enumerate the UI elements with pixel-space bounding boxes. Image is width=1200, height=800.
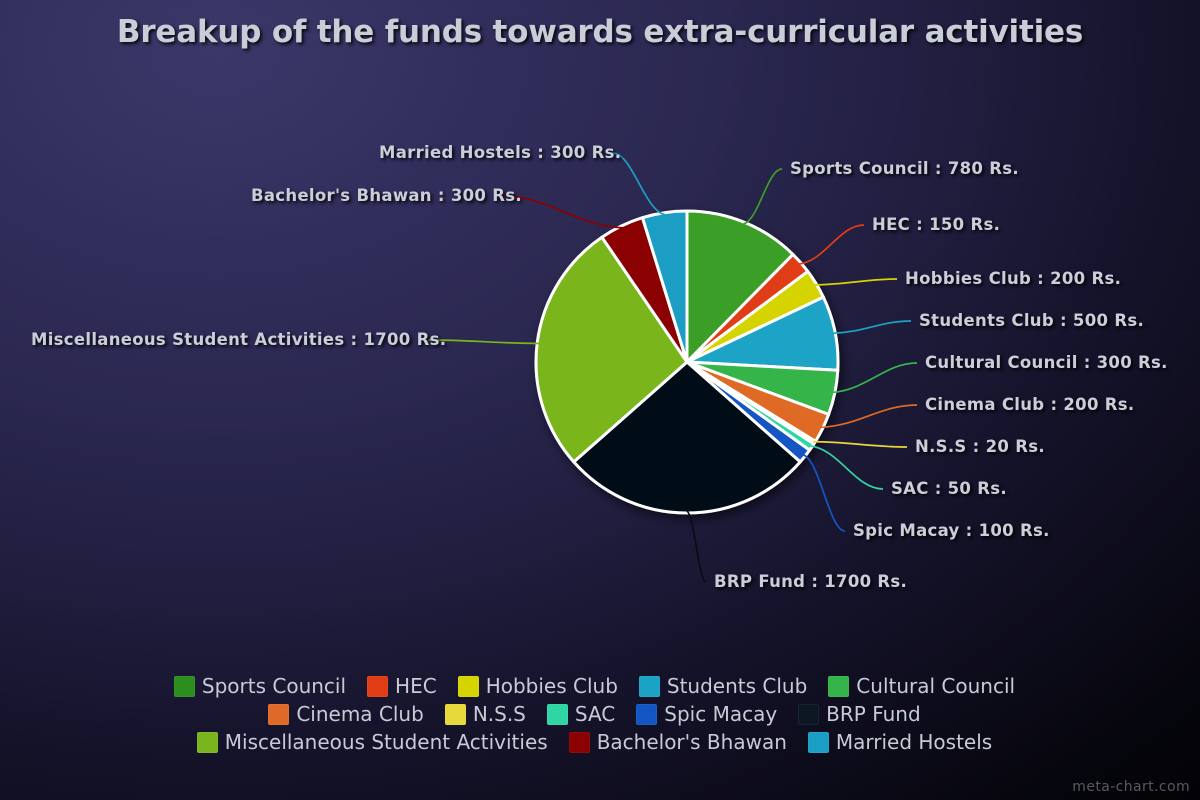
leader-line	[810, 446, 883, 489]
legend-swatch-icon	[547, 704, 568, 725]
legend-label: Sports Council	[202, 676, 346, 696]
slice-label-hobbies-club: Hobbies Club : 200 Rs.	[905, 269, 1121, 288]
legend-item[interactable]: Hobbies Club	[458, 676, 618, 697]
legend-swatch-icon	[798, 704, 819, 725]
legend-item[interactable]: Spic Macay	[636, 704, 777, 725]
leader-line	[821, 405, 917, 427]
legend-item[interactable]: Cultural Council	[828, 676, 1015, 697]
legend-item[interactable]: Cinema Club	[268, 704, 424, 725]
slice-label-bachelors-bhawan: Bachelor's Bhawan : 300 Rs.	[251, 186, 522, 205]
legend-label: Hobbies Club	[486, 676, 618, 696]
legend-item[interactable]: BRP Fund	[798, 704, 921, 725]
legend-item[interactable]: N.S.S	[445, 704, 526, 725]
slice-label-brp-fund: BRP Fund : 1700 Rs.	[714, 572, 907, 591]
legend-label: SAC	[575, 704, 615, 724]
legend-item[interactable]: Married Hostels	[808, 732, 992, 753]
slice-label-spic-macay: Spic Macay : 100 Rs.	[853, 521, 1050, 540]
legend-swatch-icon	[367, 676, 388, 697]
slice-label-cultural-council: Cultural Council : 300 Rs.	[925, 353, 1168, 372]
legend-swatch-icon	[828, 676, 849, 697]
legend-row: Sports CouncilHECHobbies ClubStudents Cl…	[0, 672, 1200, 700]
slice-label-sac: SAC : 50 Rs.	[891, 479, 1007, 498]
watermark: meta-chart.com	[1072, 779, 1190, 795]
legend-label: Cinema Club	[296, 704, 424, 724]
leader-line	[813, 442, 907, 447]
pie-slices	[536, 211, 838, 513]
leader-line	[833, 363, 917, 392]
legend-swatch-icon	[636, 704, 657, 725]
legend-item[interactable]: SAC	[547, 704, 615, 725]
slice-label-married-hostels: Married Hostels : 300 Rs.	[379, 143, 621, 162]
leader-line	[833, 321, 911, 333]
legend-label: Cultural Council	[856, 676, 1015, 696]
legend-item[interactable]: Miscellaneous Student Activities	[197, 732, 548, 753]
chart-legend: Sports CouncilHECHobbies ClubStudents Cl…	[0, 672, 1200, 756]
slice-label-students-club: Students Club : 500 Rs.	[919, 311, 1144, 330]
leader-line	[804, 455, 846, 531]
legend-swatch-icon	[639, 676, 660, 697]
legend-swatch-icon	[268, 704, 289, 725]
legend-item[interactable]: Students Club	[639, 676, 807, 697]
chart-canvas: Breakup of the funds towards extra-curri…	[0, 0, 1200, 800]
legend-label: Spic Macay	[664, 704, 777, 724]
legend-item[interactable]: Bachelor's Bhawan	[569, 732, 787, 753]
leader-line	[613, 153, 665, 215]
legend-row: Cinema ClubN.S.SSACSpic MacayBRP Fund	[0, 700, 1200, 728]
slice-label-nss: N.S.S : 20 Rs.	[915, 437, 1045, 456]
legend-label: Bachelor's Bhawan	[597, 732, 787, 752]
legend-label: Miscellaneous Student Activities	[225, 732, 548, 752]
leader-line	[815, 279, 898, 285]
legend-swatch-icon	[569, 732, 590, 753]
slice-label-miscellaneous-student-activities: Miscellaneous Student Activities : 1700 …	[31, 330, 446, 349]
legend-label: N.S.S	[473, 704, 526, 724]
legend-swatch-icon	[197, 732, 218, 753]
legend-label: Students Club	[667, 676, 807, 696]
legend-label: BRP Fund	[826, 704, 921, 724]
legend-label: HEC	[395, 676, 437, 696]
slice-label-sports-council: Sports Council : 780 Rs.	[790, 159, 1019, 178]
legend-label: Married Hostels	[836, 732, 992, 752]
legend-swatch-icon	[808, 732, 829, 753]
leader-line	[799, 225, 864, 264]
legend-swatch-icon	[174, 676, 195, 697]
slice-label-cinema-club: Cinema Club : 200 Rs.	[925, 395, 1134, 414]
legend-swatch-icon	[458, 676, 479, 697]
legend-swatch-icon	[445, 704, 466, 725]
legend-item[interactable]: HEC	[367, 676, 437, 697]
slice-label-hec: HEC : 150 Rs.	[872, 215, 1000, 234]
leader-line	[744, 169, 783, 224]
legend-item[interactable]: Sports Council	[174, 676, 346, 697]
leader-line	[687, 511, 706, 582]
legend-row: Miscellaneous Student ActivitiesBachelor…	[0, 728, 1200, 756]
